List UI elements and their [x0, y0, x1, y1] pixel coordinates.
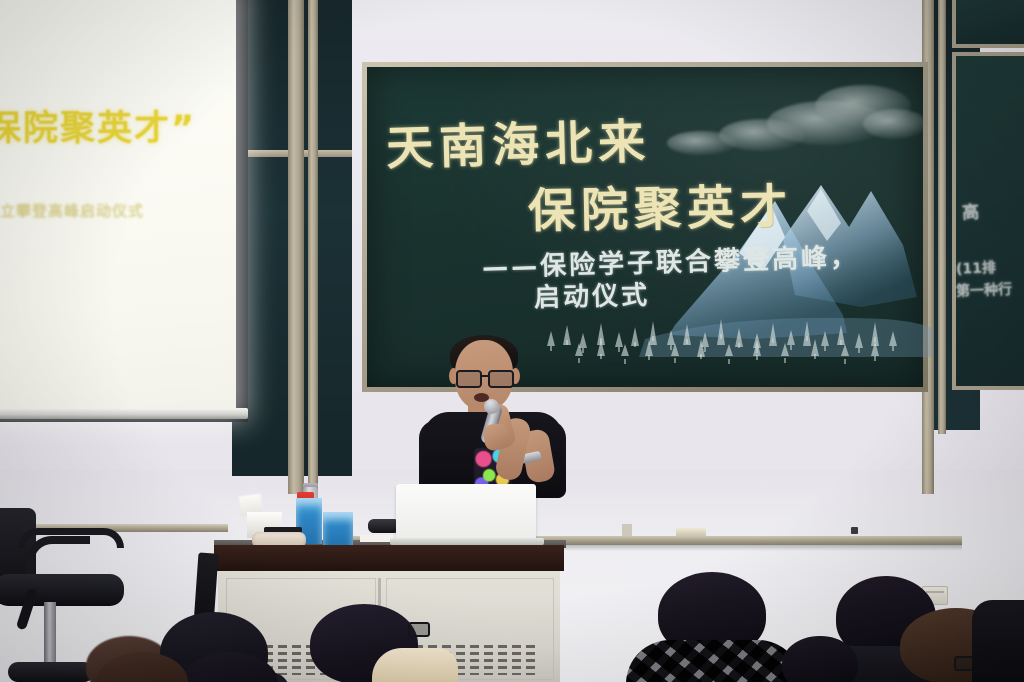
chair-base	[8, 662, 94, 682]
glasses-lens	[408, 622, 430, 637]
cloud-4	[667, 131, 737, 155]
podium-laptop-base	[390, 538, 544, 545]
right-board-chalk-line1: 高	[961, 198, 979, 224]
right-board-chalk-line3: 第一种行	[956, 279, 1013, 301]
audience-member-3-glasses	[408, 622, 434, 633]
projection-title-text: 保院聚英才”	[0, 112, 200, 147]
chair-seat	[0, 574, 124, 606]
glasses-lens-left	[456, 370, 482, 388]
projection-screen-bottom-bar	[0, 408, 248, 419]
podium-counter-edge	[214, 545, 564, 571]
cloud-5	[863, 109, 927, 139]
board-frame-rail-1	[288, 0, 304, 494]
board-eraser	[676, 528, 706, 537]
glasses-lens-right	[488, 370, 514, 388]
chair-gas-cylinder	[44, 602, 56, 668]
right-blackboard-upper	[952, 0, 1024, 48]
speaker-glasses	[456, 370, 512, 384]
right-board-chalk-line2: (11排	[956, 257, 997, 278]
ledge-clip	[622, 524, 632, 536]
podium-laptop	[396, 484, 536, 540]
board-frame-rail-4	[938, 0, 946, 434]
blackboard-subtitle-line2: 启动仪式	[534, 275, 651, 314]
podium-blue-box-2	[323, 512, 353, 546]
board-frame-rail-2	[308, 0, 318, 494]
ledge-small-object	[851, 527, 858, 534]
blackboard-headline-line1: 天南海北来	[385, 103, 652, 179]
blackboard-headline-line2: 保院聚英才	[527, 168, 793, 242]
audience-member-3-jacket	[372, 648, 458, 682]
projection-subtitle-text: 厚立攀登高峰启动仪式	[0, 200, 204, 221]
audience-member-10-torso	[972, 600, 1024, 682]
speaker-hand	[482, 422, 509, 451]
lecture-hall-screenshot: 保院聚英才” 厚立攀登高峰启动仪式	[0, 0, 1024, 682]
audience-member-6-patterned-shirt	[626, 640, 802, 682]
